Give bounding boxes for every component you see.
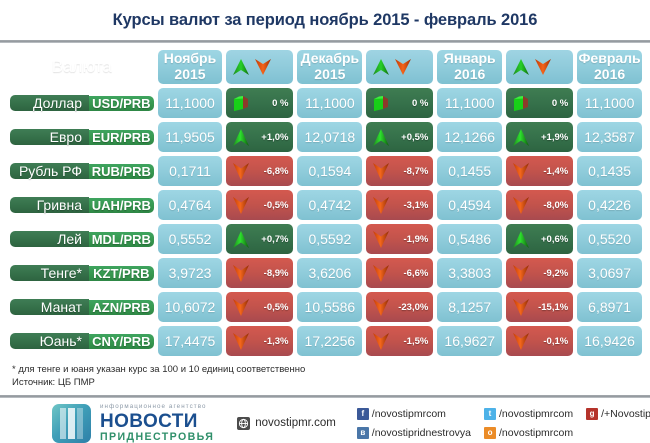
- change-cell-1: -6,8%: [226, 156, 293, 186]
- arrow-down-icon: [370, 194, 392, 216]
- rate-value-jan: 0,1455: [437, 156, 502, 186]
- change-percent: -8,9%: [254, 268, 288, 279]
- social-handle: /+Novostipmr: [601, 408, 650, 420]
- news-agency-logo-icon: [52, 404, 91, 443]
- currency-rates-table: Валюта Ноябрь 2015 Декабрь 2015: [0, 50, 650, 356]
- currency-name: Манат: [10, 299, 89, 315]
- website-link[interactable]: novostipmr.com: [237, 417, 336, 430]
- change-percent: +1,9%: [534, 132, 568, 143]
- rate-value-feb: 3,0697: [577, 258, 642, 288]
- change-cell-2: +0,5%: [366, 122, 433, 152]
- social-handle: /novostipmrcom: [499, 408, 573, 420]
- arrow-down-icon: [230, 296, 252, 318]
- change-percent: +1,0%: [254, 132, 288, 143]
- header-month-january: Январь 2016: [437, 50, 502, 84]
- header-year-label: 2015: [314, 67, 345, 83]
- table-row: ДолларUSD/PRB11,10000 %11,10000 %11,1000…: [10, 88, 642, 118]
- arrow-up-icon: [230, 126, 252, 148]
- table-body: ДолларUSD/PRB11,10000 %11,10000 %11,1000…: [10, 88, 642, 356]
- rate-value-dec: 0,4742: [297, 190, 362, 220]
- currency-name-cell: Рубль РФRUB/PRB: [10, 156, 154, 186]
- currency-name: Рубль РФ: [10, 163, 89, 179]
- arrow-down-icon: [230, 262, 252, 284]
- rate-value-jan: 16,9627: [437, 326, 502, 356]
- change-cell-1: -1,3%: [226, 326, 293, 356]
- rate-value-feb: 0,5520: [577, 224, 642, 254]
- footnotes: * для тенге и юаня указан курс за 100 и …: [0, 360, 650, 390]
- change-cell-2: -3,1%: [366, 190, 433, 220]
- currency-name: Доллар: [10, 95, 89, 111]
- change-cell-3: -9,2%: [506, 258, 573, 288]
- change-percent: +0,6%: [534, 234, 568, 245]
- change-percent: -8,0%: [534, 200, 568, 211]
- currency-code: UAH/PRB: [89, 198, 154, 213]
- currency-code: EUR/PRB: [89, 130, 154, 145]
- twitter-icon: t: [484, 408, 496, 420]
- change-percent: -15,1%: [534, 302, 568, 313]
- table-row: ГривнаUAH/PRB0,4764-0,5%0,4742-3,1%0,459…: [10, 190, 642, 220]
- header-year-label: 2015: [174, 67, 205, 83]
- change-cell-3: +1,9%: [506, 122, 573, 152]
- table-row: Рубль РФRUB/PRB0,1711-6,8%0,1594-8,7%0,1…: [10, 156, 642, 186]
- currency-name-cell: Юань*CNY/PRB: [10, 326, 154, 356]
- arrow-down-icon: [510, 160, 532, 182]
- change-percent: -0,5%: [254, 302, 288, 313]
- rate-value-dec: 11,1000: [297, 88, 362, 118]
- change-cell-3: -0,1%: [506, 326, 573, 356]
- arrow-up-icon: [230, 56, 252, 78]
- social-link-facebook[interactable]: f/novostipmrcom: [357, 408, 471, 420]
- arrow-down-icon: [510, 194, 532, 216]
- googleplus-icon: g: [586, 408, 598, 420]
- change-percent: -6,8%: [254, 166, 288, 177]
- currency-name-cell: ЕвроEUR/PRB: [10, 122, 154, 152]
- header-month-label: Январь: [444, 51, 496, 67]
- change-percent: 0 %: [394, 98, 428, 109]
- currency-name: Евро: [10, 129, 89, 145]
- social-link-twitter[interactable]: t/novostipmrcom: [484, 408, 573, 420]
- change-percent: -1,9%: [394, 234, 428, 245]
- change-percent: -0,1%: [534, 336, 568, 347]
- no-change-cube-icon: [370, 92, 392, 114]
- change-percent: -9,2%: [534, 268, 568, 279]
- title-divider: [0, 40, 650, 43]
- currency-code: CNY/PRB: [89, 334, 154, 349]
- change-cell-2: -1,5%: [366, 326, 433, 356]
- change-percent: -1,3%: [254, 336, 288, 347]
- currency-name-cell: ГривнаUAH/PRB: [10, 190, 154, 220]
- arrow-down-icon: [370, 262, 392, 284]
- change-cell-2: -1,9%: [366, 224, 433, 254]
- rate-value-nov: 10,6072: [158, 292, 223, 322]
- change-cell-1: -0,5%: [226, 292, 293, 322]
- rate-value-dec: 10,5586: [297, 292, 362, 322]
- logo-wordmark: информационное агентство НОВОСТИ ПРИДНЕС…: [100, 404, 214, 443]
- change-cell-1: +1,0%: [226, 122, 293, 152]
- arrow-up-icon: [510, 56, 532, 78]
- currency-name: Гривна: [10, 197, 89, 213]
- currency-code: KZT/PRB: [89, 266, 154, 281]
- rate-value-jan: 0,4594: [437, 190, 502, 220]
- change-cell-3: -1,4%: [506, 156, 573, 186]
- change-percent: +0,7%: [254, 234, 288, 245]
- rate-value-jan: 3,3803: [437, 258, 502, 288]
- header-month-february: Февраль 2016: [577, 50, 642, 84]
- no-change-cube-icon: [510, 92, 532, 114]
- logo-subtitle: ПРИДНЕСТРОВЬЯ: [100, 432, 214, 443]
- change-cell-2: -6,6%: [366, 258, 433, 288]
- currency-name-cell: Тенге*KZT/PRB: [10, 258, 154, 288]
- arrow-down-icon: [532, 56, 554, 78]
- change-cell-3: -8,0%: [506, 190, 573, 220]
- change-cell-2: -23,0%: [366, 292, 433, 322]
- rate-value-nov: 11,9505: [158, 122, 223, 152]
- currency-code: USD/PRB: [89, 96, 154, 111]
- arrow-down-icon: [510, 330, 532, 352]
- footnote-source: Источник: ЦБ ПМР: [12, 377, 650, 390]
- change-percent: -1,4%: [534, 166, 568, 177]
- currency-name-cell: ЛейMDL/PRB: [10, 224, 154, 254]
- change-cell-2: -8,7%: [366, 156, 433, 186]
- rate-value-dec: 3,6206: [297, 258, 362, 288]
- currency-name: Юань*: [10, 333, 89, 349]
- change-cell-1: +0,7%: [226, 224, 293, 254]
- rate-value-jan: 0,5486: [437, 224, 502, 254]
- currency-name-cell: ДолларUSD/PRB: [10, 88, 154, 118]
- header-month-november: Ноябрь 2015: [158, 50, 223, 84]
- change-percent: -0,5%: [254, 200, 288, 211]
- rate-value-jan: 12,1266: [437, 122, 502, 152]
- change-percent: -3,1%: [394, 200, 428, 211]
- rate-value-feb: 0,4226: [577, 190, 642, 220]
- header-month-label: Ноябрь: [164, 51, 216, 67]
- header-currency: Валюта: [10, 50, 154, 84]
- header-year-label: 2016: [594, 67, 625, 83]
- rate-value-nov: 17,4475: [158, 326, 223, 356]
- currency-code: AZN/PRB: [89, 300, 154, 315]
- rate-value-dec: 17,2256: [297, 326, 362, 356]
- arrow-down-icon: [370, 330, 392, 352]
- rate-value-nov: 0,5552: [158, 224, 223, 254]
- table-row: Юань*CNY/PRB17,4475-1,3%17,2256-1,5%16,9…: [10, 326, 642, 356]
- logo-tagline: информационное агентство: [100, 404, 214, 410]
- change-percent: -23,0%: [394, 302, 428, 313]
- table-row: МанатAZN/PRB10,6072-0,5%10,5586-23,0%8,1…: [10, 292, 642, 322]
- change-cell-3: +0,6%: [506, 224, 573, 254]
- change-percent: -6,6%: [394, 268, 428, 279]
- arrow-down-icon: [230, 194, 252, 216]
- rate-value-nov: 11,1000: [158, 88, 223, 118]
- rate-value-feb: 16,9426: [577, 326, 642, 356]
- table-row: Тенге*KZT/PRB3,9723-8,9%3,6206-6,6%3,380…: [10, 258, 642, 288]
- change-percent: +0,5%: [394, 132, 428, 143]
- change-cell-3: -15,1%: [506, 292, 573, 322]
- arrow-down-icon: [510, 262, 532, 284]
- arrow-up-icon: [510, 228, 532, 250]
- rate-value-nov: 0,1711: [158, 156, 223, 186]
- arrow-down-icon: [370, 160, 392, 182]
- change-cell-1: 0 %: [226, 88, 293, 118]
- arrow-up-icon: [230, 228, 252, 250]
- footnote-asterisk: * для тенге и юаня указан курс за 100 и …: [12, 364, 650, 377]
- change-cell-2: 0 %: [366, 88, 433, 118]
- facebook-icon: f: [357, 408, 369, 420]
- rate-value-nov: 3,9723: [158, 258, 223, 288]
- change-percent: 0 %: [534, 98, 568, 109]
- header-year-label: 2016: [454, 67, 485, 83]
- currency-code: RUB/PRB: [89, 164, 154, 179]
- currency-code: MDL/PRB: [89, 232, 154, 247]
- header-change-2: [366, 50, 433, 84]
- rate-value-dec: 12,0718: [297, 122, 362, 152]
- page-title: Курсы валют за период ноябрь 2015 - февр…: [113, 11, 538, 30]
- arrow-down-icon: [230, 330, 252, 352]
- header-month-december: Декабрь 2015: [297, 50, 362, 84]
- rate-value-jan: 11,1000: [437, 88, 502, 118]
- table-row: ЛейMDL/PRB0,5552+0,7%0,5592-1,9%0,5486+0…: [10, 224, 642, 254]
- rate-value-dec: 0,1594: [297, 156, 362, 186]
- footer: информационное агентство НОВОСТИ ПРИДНЕС…: [0, 398, 650, 443]
- rate-value-feb: 12,3587: [577, 122, 642, 152]
- rate-value-feb: 0,1435: [577, 156, 642, 186]
- arrow-down-icon: [252, 56, 274, 78]
- rate-value-dec: 0,5592: [297, 224, 362, 254]
- header-month-label: Февраль: [578, 51, 640, 67]
- change-percent: -1,5%: [394, 336, 428, 347]
- table-header-row: Валюта Ноябрь 2015 Декабрь 2015: [10, 50, 642, 84]
- arrow-up-icon: [510, 126, 532, 148]
- change-percent: -8,7%: [394, 166, 428, 177]
- currency-name: Тенге*: [10, 265, 89, 281]
- social-links: f/novostipmrcomt/novostipmrcomg/+Novosti…: [357, 406, 650, 441]
- arrow-down-icon: [370, 228, 392, 250]
- title-bar: Курсы валют за период ноябрь 2015 - февр…: [0, 0, 650, 40]
- logo-title: НОВОСТИ: [100, 412, 214, 431]
- rate-value-nov: 0,4764: [158, 190, 223, 220]
- table-row: ЕвроEUR/PRB11,9505+1,0%12,0718+0,5%12,12…: [10, 122, 642, 152]
- currency-name-cell: МанатAZN/PRB: [10, 292, 154, 322]
- arrow-down-icon: [230, 160, 252, 182]
- header-change-3: [506, 50, 573, 84]
- arrow-up-icon: [370, 56, 392, 78]
- change-cell-1: -0,5%: [226, 190, 293, 220]
- globe-icon: [237, 417, 250, 430]
- rate-value-feb: 6,8971: [577, 292, 642, 322]
- arrow-down-icon: [510, 296, 532, 318]
- arrow-up-icon: [370, 126, 392, 148]
- header-change-1: [226, 50, 293, 84]
- rate-value-jan: 8,1257: [437, 292, 502, 322]
- change-cell-1: -8,9%: [226, 258, 293, 288]
- change-percent: 0 %: [254, 98, 288, 109]
- arrow-down-icon: [370, 296, 392, 318]
- social-handle: /novostipmrcom: [372, 408, 446, 420]
- header-month-label: Декабрь: [301, 51, 360, 67]
- social-link-googleplus[interactable]: g/+Novostipmr: [586, 408, 650, 420]
- arrow-down-icon: [392, 56, 414, 78]
- change-cell-3: 0 %: [506, 88, 573, 118]
- currency-name: Лей: [10, 231, 89, 247]
- rate-value-feb: 11,1000: [577, 88, 642, 118]
- no-change-cube-icon: [230, 92, 252, 114]
- website-url: novostipmr.com: [255, 417, 336, 429]
